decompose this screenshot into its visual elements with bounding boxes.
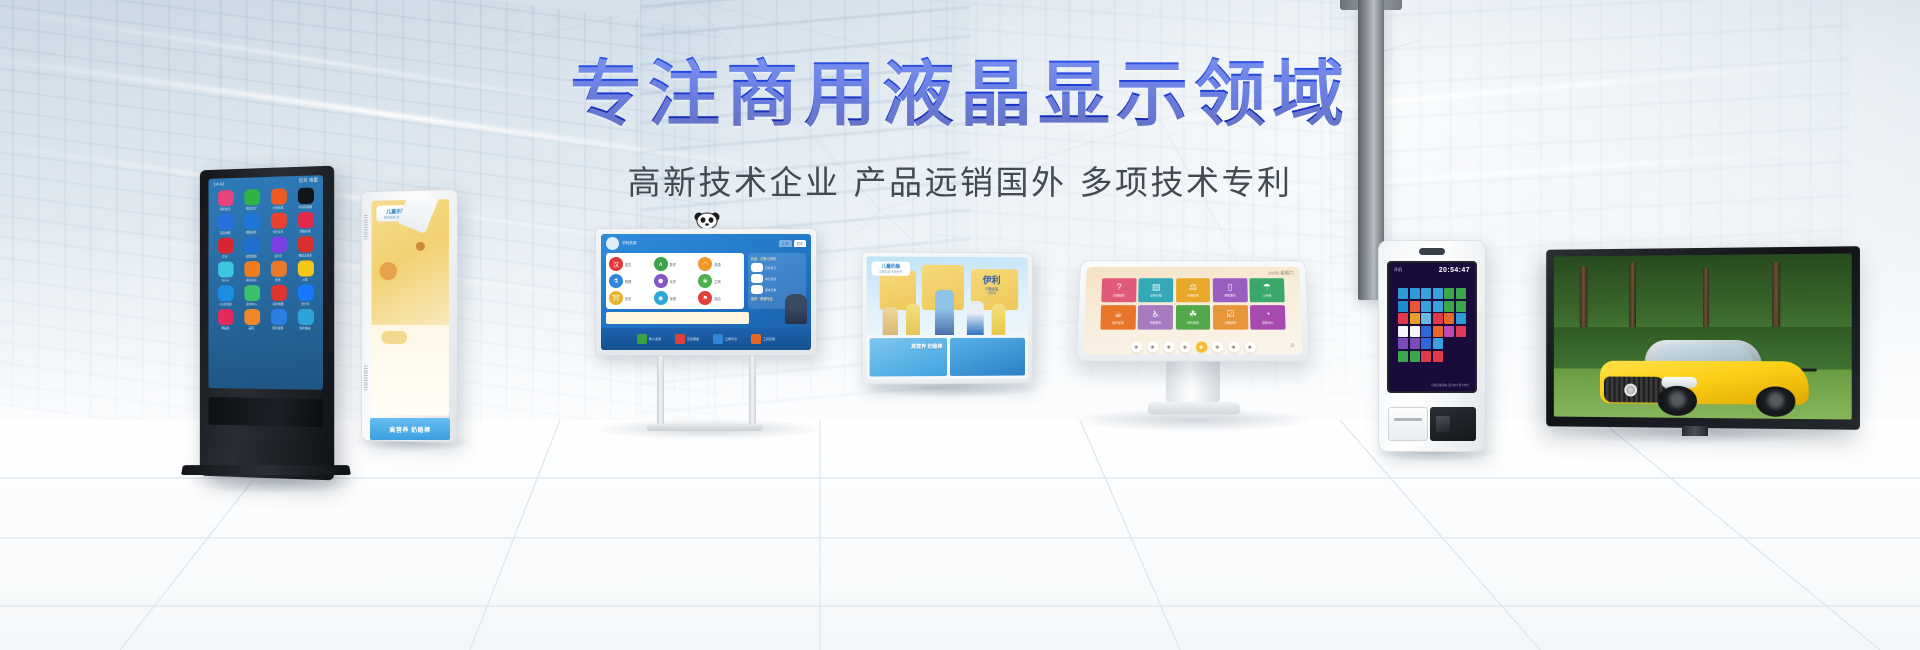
whiteboard-tabs[interactable]: 小学初中 bbox=[779, 240, 806, 247]
terminal-body: 开机 20:54:47 自助点餐系统 扫码支付 刷卡支付 bbox=[1378, 240, 1486, 452]
app-label: 手机淘宝 bbox=[220, 207, 230, 211]
whiteboard-mascot-figure bbox=[785, 294, 807, 324]
touch-table-dock-button[interactable]: ◈ bbox=[1212, 342, 1223, 353]
ad-wall-cell: 高营养 奶酪棒 bbox=[870, 338, 947, 376]
touch-table-dock-button[interactable]: ◈ bbox=[1244, 342, 1255, 353]
subject-icon[interactable]: ◉ bbox=[654, 291, 668, 305]
tile-icon: ☑ bbox=[1226, 310, 1234, 319]
app-icon-cell[interactable]: 今日头条 bbox=[266, 212, 291, 234]
page-subtitle: 高新技术企业 产品远销国外 多项技术专利 bbox=[0, 156, 1920, 204]
touch-table-tile[interactable]: ◔帮助中心 bbox=[1250, 305, 1286, 329]
whiteboard-dock-item[interactable]: 互动课堂 bbox=[675, 334, 699, 344]
subject-label: 地理 bbox=[670, 296, 676, 301]
device-vertical-ad-display[interactable]: 儿童乐园 快乐成长 安全陪伴 高营养 奶酪棒 bbox=[360, 190, 458, 442]
app-icon-cell[interactable]: 应用中心 bbox=[239, 285, 264, 306]
app-icon-cell[interactable]: 美团 bbox=[239, 309, 264, 330]
app-icon-cell[interactable]: 火狐 bbox=[293, 260, 318, 281]
ad-wall-logo: 儿童奶酪 高钙营养 天天补钙 bbox=[872, 262, 910, 276]
whiteboard-subject-item[interactable]: ⚗物理 bbox=[609, 274, 652, 288]
whiteboard-note-bar bbox=[606, 312, 749, 324]
app-icon-cell[interactable]: QQ浏览器 bbox=[213, 285, 237, 306]
subject-icon[interactable]: 汉 bbox=[609, 257, 623, 271]
subject-label: 历史 bbox=[625, 296, 631, 301]
touch-table-tile[interactable]: ⚖社保查询 bbox=[1176, 278, 1211, 302]
subject-icon[interactable]: ⛩ bbox=[609, 291, 623, 305]
subject-label: 生物 bbox=[714, 279, 720, 284]
decor-cushion bbox=[381, 331, 407, 344]
metro-tile[interactable] bbox=[1421, 338, 1431, 349]
app-label: 美团 bbox=[249, 326, 254, 330]
kiosk-screen[interactable]: 14:42 信号 电量 手机淘宝微信支付小米商城抖音短视频百度地图酷狗音乐今日头… bbox=[208, 175, 323, 390]
touch-table-dock-button[interactable]: ◈ bbox=[1179, 342, 1190, 353]
ad-wall-brand-sub: 高钙营养 天天补钙 bbox=[879, 270, 902, 274]
whiteboard-dock-item[interactable]: 教人资源 bbox=[637, 334, 661, 344]
terminal-tile-grid[interactable] bbox=[1389, 274, 1475, 376]
app-icon-cell[interactable]: 唯品会 bbox=[213, 309, 237, 330]
tile-icon: ☘ bbox=[1189, 310, 1197, 319]
metro-tile[interactable] bbox=[1421, 326, 1431, 337]
subject-label: 数学 bbox=[670, 262, 676, 267]
metro-tile[interactable] bbox=[1410, 326, 1420, 337]
app-label: 爱奇艺 bbox=[274, 254, 282, 258]
side-item-label: 期末试卷 bbox=[765, 288, 776, 292]
dock-icon[interactable] bbox=[751, 334, 761, 344]
dock-label: 互动课堂 bbox=[687, 337, 699, 341]
whiteboard-dock[interactable]: 教人资源互动课堂云端平台工具应用 bbox=[601, 328, 811, 350]
whiteboard-topbar: 学科资源 小学初中 bbox=[601, 234, 811, 253]
ad-wall-hero: 儿童奶酪 高钙营养 天天补钙 伊利 干酪含量 >51% bbox=[867, 256, 1028, 335]
tile-label: 问卷调查 bbox=[1225, 320, 1237, 324]
kiosk-foot bbox=[181, 465, 351, 475]
app-label: 腾讯视频 bbox=[273, 326, 284, 330]
touch-table-tile[interactable]: ?办事指南 bbox=[1101, 278, 1136, 302]
product-banner: 专注商用液晶显示领域 高新技术企业 产品远销国外 多项技术专利 14:42 信号… bbox=[0, 0, 1920, 650]
app-icon[interactable] bbox=[244, 309, 260, 325]
app-icon-cell[interactable]: 优酷视频 bbox=[239, 237, 264, 258]
app-icon-cell[interactable]: 手机淘宝 bbox=[239, 261, 264, 282]
speaker-grille-icon bbox=[364, 214, 368, 240]
printer-slot-icon bbox=[1388, 407, 1428, 441]
app-icon[interactable] bbox=[297, 260, 313, 276]
whiteboard-dock-item[interactable]: 云端平台 bbox=[713, 334, 737, 344]
app-icon-cell[interactable]: 网易云音乐 bbox=[293, 236, 318, 258]
app-icon-cell[interactable]: 酷狗音乐 bbox=[239, 213, 264, 234]
search-icon[interactable]: ⌕ bbox=[1290, 340, 1296, 351]
metro-tile[interactable] bbox=[1410, 338, 1420, 349]
metro-tile[interactable] bbox=[1456, 326, 1466, 337]
decor-ball bbox=[379, 262, 397, 280]
whiteboard-side-item[interactable]: 期末试卷 bbox=[751, 285, 803, 294]
touch-table-dock-button[interactable]: ◈ bbox=[1163, 342, 1174, 353]
app-icon-cell[interactable]: 微博 bbox=[266, 261, 291, 282]
app-icon[interactable] bbox=[297, 236, 313, 252]
app-label: 天猫商城 bbox=[300, 229, 311, 233]
tile-icon: ⚖ bbox=[1189, 283, 1197, 292]
metro-tile[interactable] bbox=[1444, 313, 1454, 324]
tile-label: 办事指南 bbox=[1113, 294, 1125, 298]
dock-icon[interactable] bbox=[637, 334, 647, 344]
metro-tile[interactable] bbox=[1456, 301, 1466, 312]
app-label: 应用中心 bbox=[246, 302, 257, 306]
touch-table-tile[interactable]: ☕医疗健康 bbox=[1100, 305, 1136, 329]
car-wheel bbox=[1755, 387, 1795, 418]
metro-tile[interactable] bbox=[1433, 313, 1443, 324]
touch-table-screen[interactable]: 14:05 星期六 ?办事指南▤证件办理⚖社保查询▯便民服务☂公积金☕医疗健康♿… bbox=[1083, 267, 1303, 355]
touch-table-dock-button[interactable]: ◈ bbox=[1228, 342, 1239, 353]
side-item-thumb bbox=[751, 285, 763, 294]
terminal-corner-label: 开机 bbox=[1394, 267, 1402, 274]
metro-tile[interactable] bbox=[1444, 301, 1454, 312]
touch-table-dock-button[interactable]: ◈ bbox=[1147, 342, 1158, 353]
app-label: 抖音短视频 bbox=[299, 205, 313, 209]
touch-table-neck bbox=[1166, 358, 1220, 402]
tile-label: 公积金 bbox=[1263, 294, 1272, 298]
subject-icon[interactable]: ∧ bbox=[654, 257, 668, 271]
tv-stand-neck bbox=[1682, 426, 1708, 436]
metro-tile[interactable] bbox=[1398, 288, 1408, 299]
touch-table-tile[interactable]: ♿残疾服务 bbox=[1138, 305, 1173, 329]
app-icon[interactable] bbox=[297, 212, 313, 229]
app-icon[interactable] bbox=[270, 285, 286, 301]
metro-tile[interactable] bbox=[1398, 338, 1408, 349]
metro-tile[interactable] bbox=[1433, 301, 1443, 312]
ad-vertical-screen[interactable]: 儿童乐园 快乐成长 安全陪伴 bbox=[372, 199, 449, 416]
app-icon[interactable] bbox=[218, 238, 234, 254]
metro-tile[interactable] bbox=[1410, 313, 1420, 324]
whiteboard-stand-column bbox=[657, 356, 664, 428]
dock-label: 云端平台 bbox=[725, 337, 737, 341]
decor-ball bbox=[416, 242, 425, 251]
metro-tile[interactable] bbox=[1444, 351, 1454, 362]
tile-label: 帮助中心 bbox=[1262, 320, 1274, 324]
tv-frame bbox=[1546, 246, 1860, 430]
app-label: 快手极速 bbox=[300, 326, 311, 330]
ad-vertical-banner-text: 高营养 奶酪棒 bbox=[389, 425, 430, 434]
speaker-grille-icon bbox=[364, 365, 368, 391]
app-icon-cell[interactable]: 高德地图 bbox=[266, 285, 291, 306]
subject-icon[interactable]: ◠ bbox=[698, 257, 712, 271]
app-label: 京东 bbox=[223, 255, 228, 259]
ad-wall-cell bbox=[949, 338, 1025, 376]
whiteboard-subject-item[interactable]: ⛩历史 bbox=[609, 291, 652, 305]
whiteboard-stand-foot bbox=[647, 424, 763, 431]
touch-table-tile[interactable]: ☂公积金 bbox=[1250, 278, 1285, 302]
app-label: 微信支付 bbox=[246, 206, 257, 210]
app-icon[interactable] bbox=[218, 261, 234, 277]
app-icon-cell[interactable]: 天猫商城 bbox=[293, 212, 318, 234]
side-item-thumb bbox=[751, 274, 763, 283]
app-icon-cell[interactable]: TikTok bbox=[213, 261, 237, 282]
tv-screen[interactable] bbox=[1554, 253, 1852, 419]
app-icon[interactable] bbox=[218, 309, 234, 325]
metro-tile[interactable] bbox=[1444, 288, 1454, 299]
app-icon[interactable] bbox=[270, 212, 286, 228]
device-commercial-tv[interactable] bbox=[1542, 248, 1858, 428]
ad-wall-screen[interactable]: 儿童奶酪 高钙营养 天天补钙 伊利 干酪含量 >51% bbox=[867, 256, 1028, 379]
metro-tile[interactable] bbox=[1398, 351, 1408, 362]
side-item-thumb bbox=[751, 263, 763, 272]
touch-table-tile[interactable]: ▯便民服务 bbox=[1213, 278, 1248, 302]
whiteboard-subject-item[interactable]: ⬢化学 bbox=[654, 274, 697, 288]
tile-label: 便民服务 bbox=[1224, 294, 1236, 298]
app-label: 微博 bbox=[276, 278, 281, 282]
whiteboard-subject-item[interactable]: ❀生物 bbox=[698, 274, 741, 288]
side-item-label: 单元测试 bbox=[765, 277, 776, 281]
metro-tile[interactable] bbox=[1456, 338, 1466, 349]
dock-icon[interactable] bbox=[675, 334, 685, 344]
metro-tile[interactable] bbox=[1456, 288, 1466, 299]
subject-icon[interactable]: ⚗ bbox=[609, 274, 623, 288]
metro-tile[interactable] bbox=[1444, 338, 1454, 349]
camera-icon bbox=[1419, 248, 1445, 255]
decor-slide bbox=[397, 199, 443, 234]
ad-wall-badge-main: 伊利 bbox=[983, 273, 1001, 286]
whiteboard-tab[interactable]: 小学 bbox=[779, 240, 791, 247]
app-icon-cell[interactable]: 支付宝 bbox=[293, 285, 318, 306]
app-icon[interactable] bbox=[270, 237, 286, 253]
whiteboard-subject-item[interactable]: ◠英语 bbox=[698, 257, 741, 271]
ad-vertical-hero: 儿童乐园 快乐成长 安全陪伴 bbox=[372, 199, 449, 325]
whiteboard-subject-grid[interactable]: 汉语文∧数学◠英语⚗物理⬢化学❀生物⛩历史◉地理⚑政治 bbox=[606, 253, 744, 309]
tile-icon: ☕ bbox=[1114, 310, 1122, 319]
tile-icon: ♿ bbox=[1152, 310, 1160, 319]
whiteboard-subject-item[interactable]: ⚑政治 bbox=[698, 291, 741, 305]
subject-label: 语文 bbox=[625, 262, 631, 267]
terminal-status-bar: 开机 20:54:47 bbox=[1389, 263, 1475, 274]
card-reader-icon[interactable] bbox=[1430, 407, 1476, 441]
app-icon[interactable] bbox=[218, 285, 234, 301]
metro-tile[interactable] bbox=[1421, 313, 1431, 324]
app-label: 优酷视频 bbox=[246, 254, 257, 258]
ad-person bbox=[935, 290, 954, 335]
whiteboard-side-item[interactable]: 同步练习 bbox=[751, 263, 803, 272]
app-icon[interactable] bbox=[297, 309, 313, 325]
metro-tile[interactable] bbox=[1433, 338, 1443, 349]
whiteboard-subject-item[interactable]: ◉地理 bbox=[654, 291, 697, 305]
ad-wall-badge: 伊利 干酪含量 >51% bbox=[983, 273, 1001, 295]
touch-table-clock: 14:05 星期六 bbox=[1268, 271, 1294, 277]
app-icon[interactable] bbox=[270, 261, 286, 277]
metro-tile[interactable] bbox=[1456, 313, 1466, 324]
whiteboard-subject-item[interactable]: 汉语文 bbox=[609, 257, 652, 271]
dock-icon[interactable] bbox=[713, 334, 723, 344]
metro-tile[interactable] bbox=[1398, 313, 1408, 324]
whiteboard-dock-item[interactable]: 工具应用 bbox=[751, 334, 775, 344]
tile-icon: ▯ bbox=[1227, 283, 1232, 292]
ad-wall-badge-value: >51% bbox=[983, 291, 1001, 295]
app-icon-cell[interactable]: 腾讯视频 bbox=[266, 309, 291, 330]
touch-table-tile[interactable]: ▤证件办理 bbox=[1138, 278, 1173, 302]
touch-table-dock-button[interactable]: ◈ bbox=[1196, 342, 1207, 353]
whiteboard-side-title: 精品 · 试卷与资料 bbox=[751, 256, 803, 261]
tile-label: 社保查询 bbox=[1187, 294, 1199, 298]
side-item-label: 同步练习 bbox=[765, 266, 776, 270]
tile-icon: ◔ bbox=[1265, 310, 1271, 319]
tile-icon: ▤ bbox=[1152, 283, 1161, 292]
tile-icon: ☂ bbox=[1263, 283, 1271, 292]
device-interactive-whiteboard[interactable]: 学科资源 小学初中 汉语文∧数学◠英语⚗物理⬢化学❀生物⛩历史◉地理⚑政治 精品… bbox=[595, 228, 817, 428]
whiteboard-title: 学科资源 bbox=[622, 241, 636, 246]
metro-tile[interactable] bbox=[1444, 326, 1454, 337]
car-wheel bbox=[1657, 386, 1696, 416]
app-icon[interactable] bbox=[244, 285, 260, 301]
ad-vertical-body: 儿童乐园 快乐成长 安全陪伴 bbox=[361, 189, 458, 443]
metro-tile[interactable] bbox=[1433, 351, 1443, 362]
app-icon[interactable] bbox=[270, 309, 286, 325]
app-label: 网易云音乐 bbox=[299, 253, 313, 257]
subject-icon[interactable]: ⚑ bbox=[698, 291, 712, 305]
tile-label: 绿色通道 bbox=[1187, 320, 1199, 324]
metro-tile[interactable] bbox=[1410, 351, 1420, 362]
dock-label: 工具应用 bbox=[763, 337, 775, 341]
terminal-footer-note: 自助点餐系统 扫码支付 刷卡支付 bbox=[1395, 383, 1469, 387]
headline-block: 专注商用液晶显示领域 高新技术企业 产品远销国外 多项技术专利 bbox=[0, 56, 1920, 204]
app-icon-cell[interactable]: 百度地图 bbox=[213, 214, 237, 235]
whiteboard-tab[interactable]: 初中 bbox=[794, 240, 806, 247]
page-title: 专注商用液晶显示领域 bbox=[0, 56, 1920, 134]
app-icon[interactable] bbox=[244, 237, 260, 253]
metro-tile[interactable] bbox=[1421, 301, 1431, 312]
kiosk-app-grid[interactable]: 手机淘宝微信支付小米商城抖音短视频百度地图酷狗音乐今日头条天猫商城京东优酷视频爱… bbox=[208, 183, 323, 334]
touch-table-panel: 14:05 星期六 ?办事指南▤证件办理⚖社保查询▯便民服务☂公积金☕医疗健康♿… bbox=[1076, 260, 1310, 361]
touch-table-dock[interactable]: ◈◈◈◈◈◈◈◈ bbox=[1083, 342, 1302, 353]
tile-icon: ? bbox=[1116, 283, 1121, 292]
dock-label: 教人资源 bbox=[649, 337, 661, 341]
device-touch-table-kiosk[interactable]: 14:05 星期六 ?办事指南▤证件办理⚖社保查询▯便民服务☂公积金☕医疗健康♿… bbox=[1078, 258, 1308, 423]
ad-vertical-bottom-banner: 高营养 奶酪棒 bbox=[370, 418, 450, 440]
metro-tile[interactable] bbox=[1456, 351, 1466, 362]
tile-label: 证件办理 bbox=[1150, 294, 1162, 298]
touch-table-tile-grid[interactable]: ?办事指南▤证件办理⚖社保查询▯便民服务☂公积金☕医疗健康♿残疾服务☘绿色通道☑… bbox=[1084, 267, 1302, 333]
app-label: QQ浏览器 bbox=[219, 302, 231, 306]
scanner-lens-icon bbox=[1436, 416, 1450, 432]
app-label: 唯品会 bbox=[221, 326, 229, 330]
app-icon[interactable] bbox=[218, 214, 234, 230]
ad-wall-frame: 儿童奶酪 高钙营养 天天补钙 伊利 干酪含量 >51% bbox=[861, 251, 1032, 384]
tile-label: 残疾服务 bbox=[1150, 320, 1162, 324]
subject-icon[interactable]: ⬢ bbox=[654, 274, 668, 288]
avatar[interactable] bbox=[606, 237, 619, 250]
app-label: 小米商城 bbox=[273, 206, 284, 210]
whiteboard-screen[interactable]: 学科资源 小学初中 汉语文∧数学◠英语⚗物理⬢化学❀生物⛩历史◉地理⚑政治 精品… bbox=[601, 234, 811, 350]
metro-tile[interactable] bbox=[1398, 326, 1408, 337]
metro-tile[interactable] bbox=[1398, 301, 1408, 312]
app-icon-cell[interactable]: 快手极速 bbox=[293, 309, 318, 330]
whiteboard-frame: 学科资源 小学初中 汉语文∧数学◠英语⚗物理⬢化学❀生物⛩历史◉地理⚑政治 精品… bbox=[595, 228, 817, 356]
metro-tile[interactable] bbox=[1410, 288, 1420, 299]
app-label: 今日头条 bbox=[273, 230, 284, 234]
tile-label: 医疗健康 bbox=[1112, 320, 1124, 324]
metro-tile[interactable] bbox=[1433, 326, 1443, 337]
app-icon-cell[interactable]: 京东 bbox=[213, 238, 237, 259]
whiteboard-subject-item[interactable]: ∧数学 bbox=[654, 257, 697, 271]
metro-tile[interactable] bbox=[1433, 288, 1443, 299]
app-icon[interactable] bbox=[244, 213, 260, 229]
ad-wall-strip-text: 高营养 奶酪棒 bbox=[911, 343, 942, 350]
subject-label: 物理 bbox=[625, 279, 631, 284]
touch-table-tile[interactable]: ☑问卷调查 bbox=[1213, 305, 1248, 329]
ad-vertical-lower bbox=[372, 325, 449, 416]
ad-wall-strip: 高营养 奶酪棒 bbox=[867, 335, 1028, 380]
whiteboard-stand-column bbox=[749, 356, 756, 428]
app-label: TikTok bbox=[222, 279, 229, 283]
subject-label: 化学 bbox=[670, 279, 676, 284]
terminal-clock: 20:54:47 bbox=[1439, 267, 1470, 274]
kiosk-base-panel bbox=[208, 397, 323, 427]
metro-tile[interactable] bbox=[1410, 301, 1420, 312]
metro-tile[interactable] bbox=[1421, 351, 1431, 362]
app-label: 百度地图 bbox=[220, 231, 230, 235]
mercedes-emblem-icon bbox=[1624, 383, 1637, 396]
ad-person bbox=[991, 304, 1005, 335]
ad-person bbox=[967, 301, 983, 335]
device-wall-ad-display[interactable]: 儿童奶酪 高钙营养 天天补钙 伊利 干酪含量 >51% bbox=[862, 252, 1034, 384]
app-label: 酷狗音乐 bbox=[246, 230, 257, 234]
app-icon[interactable] bbox=[297, 285, 313, 301]
metro-tile[interactable] bbox=[1421, 288, 1431, 299]
touch-table-dock-button[interactable]: ◈ bbox=[1131, 342, 1142, 353]
app-label: 火狐 bbox=[303, 278, 308, 282]
terminal-screen[interactable]: 开机 20:54:47 自助点餐系统 扫码支付 刷卡支付 bbox=[1387, 261, 1477, 393]
device-vertical-kiosk[interactable]: 14:42 信号 电量 手机淘宝微信支付小米商城抖音短视频百度地图酷狗音乐今日头… bbox=[198, 168, 334, 478]
app-label: 手机淘宝 bbox=[246, 278, 257, 282]
app-label: 高德地图 bbox=[273, 302, 284, 306]
tv-scene-car bbox=[1600, 340, 1809, 416]
subject-label: 政治 bbox=[714, 296, 720, 301]
device-self-service-terminal[interactable]: 开机 20:54:47 自助点餐系统 扫码支付 刷卡支付 bbox=[1378, 240, 1486, 452]
subject-label: 英语 bbox=[714, 262, 720, 267]
kiosk-body: 14:42 信号 电量 手机淘宝微信支付小米商城抖音短视频百度地图酷狗音乐今日头… bbox=[200, 166, 334, 481]
whiteboard-side-item[interactable]: 单元测试 bbox=[751, 274, 803, 283]
touch-table-base bbox=[1147, 402, 1241, 415]
ad-person bbox=[906, 304, 921, 335]
app-icon-cell[interactable]: 爱奇艺 bbox=[266, 237, 291, 258]
app-icon[interactable] bbox=[244, 261, 260, 277]
whiteboard-main: 汉语文∧数学◠英语⚗物理⬢化学❀生物⛩历史◉地理⚑政治 精品 · 试卷与资料 同… bbox=[601, 253, 811, 309]
touch-table-tile[interactable]: ☘绿色通道 bbox=[1175, 305, 1210, 329]
app-label: 支付宝 bbox=[301, 302, 309, 306]
ad-person bbox=[883, 307, 898, 335]
subject-icon[interactable]: ❀ bbox=[698, 274, 712, 288]
